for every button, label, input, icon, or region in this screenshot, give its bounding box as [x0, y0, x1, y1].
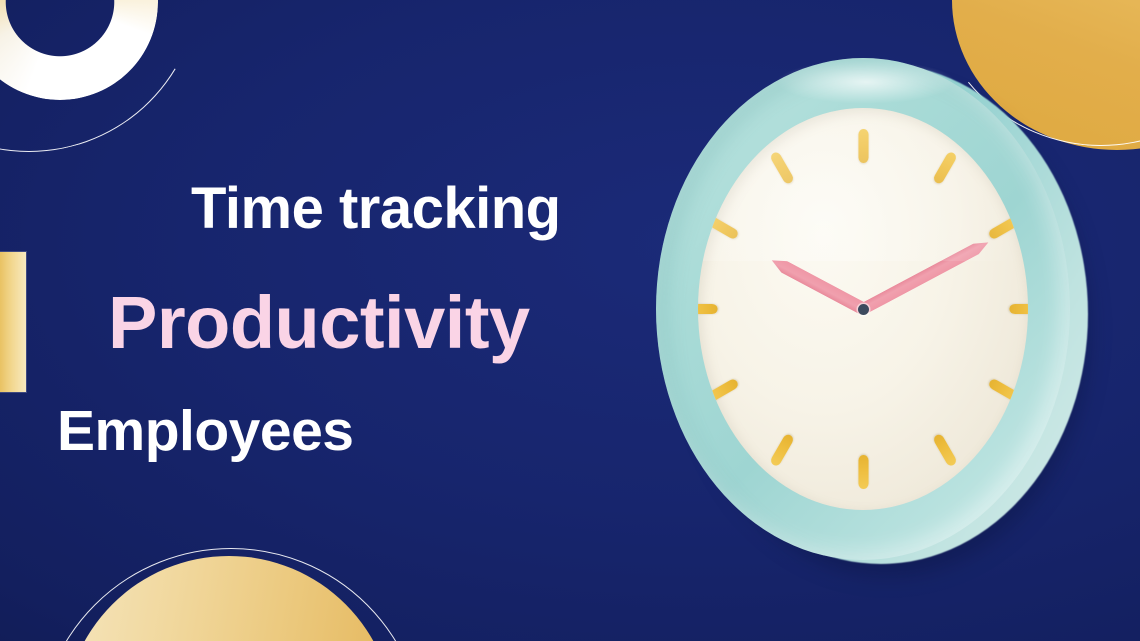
clock-tick [705, 378, 740, 404]
clock-tick [698, 304, 717, 314]
clock-hour-hand [768, 254, 866, 314]
clock-tick [769, 151, 795, 186]
clock-minute-hand [860, 237, 991, 314]
clock-rim-highlight [776, 60, 956, 104]
clock-tick [932, 151, 958, 186]
headline-line-productivity: Productivity [108, 286, 530, 360]
clock-tick [987, 378, 1022, 404]
clock-tick [769, 433, 795, 468]
headline-block: Time tracking Productivity Employees [0, 0, 640, 641]
clock-center-pivot [858, 304, 869, 315]
clock-tick [858, 455, 868, 489]
clock-face [698, 108, 1028, 510]
slide-canvas: Time tracking Productivity Employees [0, 0, 1140, 641]
clock-tick [858, 129, 868, 163]
headline-line-employees: Employees [57, 403, 353, 460]
clock-tick [1009, 304, 1028, 314]
wall-clock-illustration [656, 58, 1088, 570]
headline-line-time-tracking: Time tracking [191, 180, 561, 238]
clock-tick [932, 433, 958, 468]
